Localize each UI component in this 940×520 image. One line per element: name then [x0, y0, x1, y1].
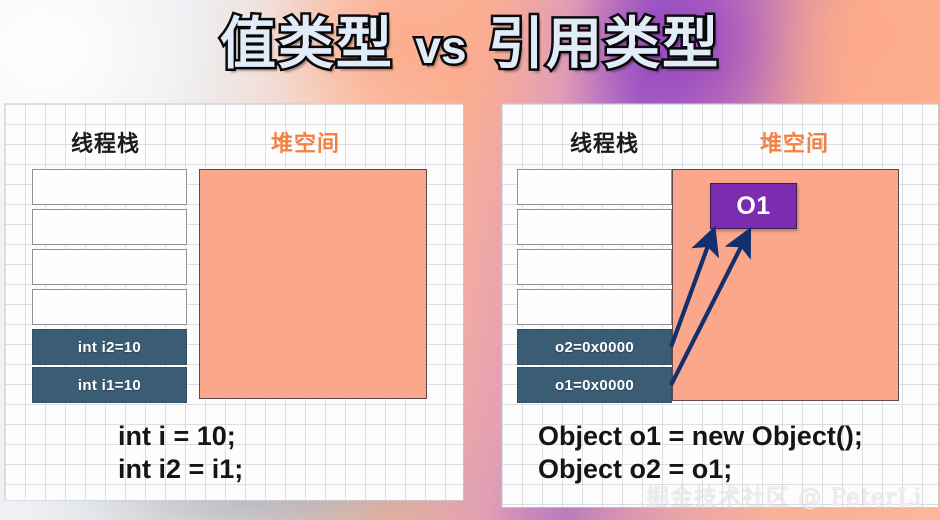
left-code-snippet: int i = 10; int i2 = i1; — [118, 420, 243, 486]
slide-title: 值类型 vs 引用类型 — [0, 6, 940, 82]
left-stack-cell-2[interactable] — [32, 209, 187, 245]
watermark-text: 掘金技术社区 @ PeterLi — [646, 478, 922, 512]
left-heap-space-label: 堆空间 — [271, 126, 340, 158]
left-thread-stack-label: 线程栈 — [71, 126, 140, 158]
title-left-text: 值类型 — [220, 12, 394, 75]
left-stack-cell-3[interactable] — [32, 249, 187, 285]
left-stack-cell-i2[interactable]: int i2=10 — [32, 329, 187, 365]
left-stack-cell-i2-label: int i2=10 — [78, 339, 141, 356]
title-vs-text: vs — [411, 21, 470, 73]
title-right-text: 引用类型 — [488, 12, 720, 75]
left-stack-cell-i1-label: int i1=10 — [78, 377, 141, 394]
left-heap-region — [199, 169, 427, 399]
left-code-line-1: int i = 10; — [118, 420, 243, 453]
slide-canvas: 值类型 vs 引用类型 线程栈 堆空间 int i2=10 int i1=10 … — [0, 0, 940, 520]
right-code-line-1: Object o1 = new Object(); — [538, 420, 863, 453]
left-stack-cell-4[interactable] — [32, 289, 187, 325]
left-stack-cell-i1[interactable]: int i1=10 — [32, 367, 187, 403]
right-code-snippet: Object o1 = new Object(); Object o2 = o1… — [538, 420, 863, 486]
arrow-o2-to-o1 — [671, 232, 713, 347]
arrow-o1-to-o1 — [671, 233, 748, 385]
left-stack-cell-1[interactable] — [32, 169, 187, 205]
left-code-line-2: int i2 = i1; — [118, 453, 243, 486]
